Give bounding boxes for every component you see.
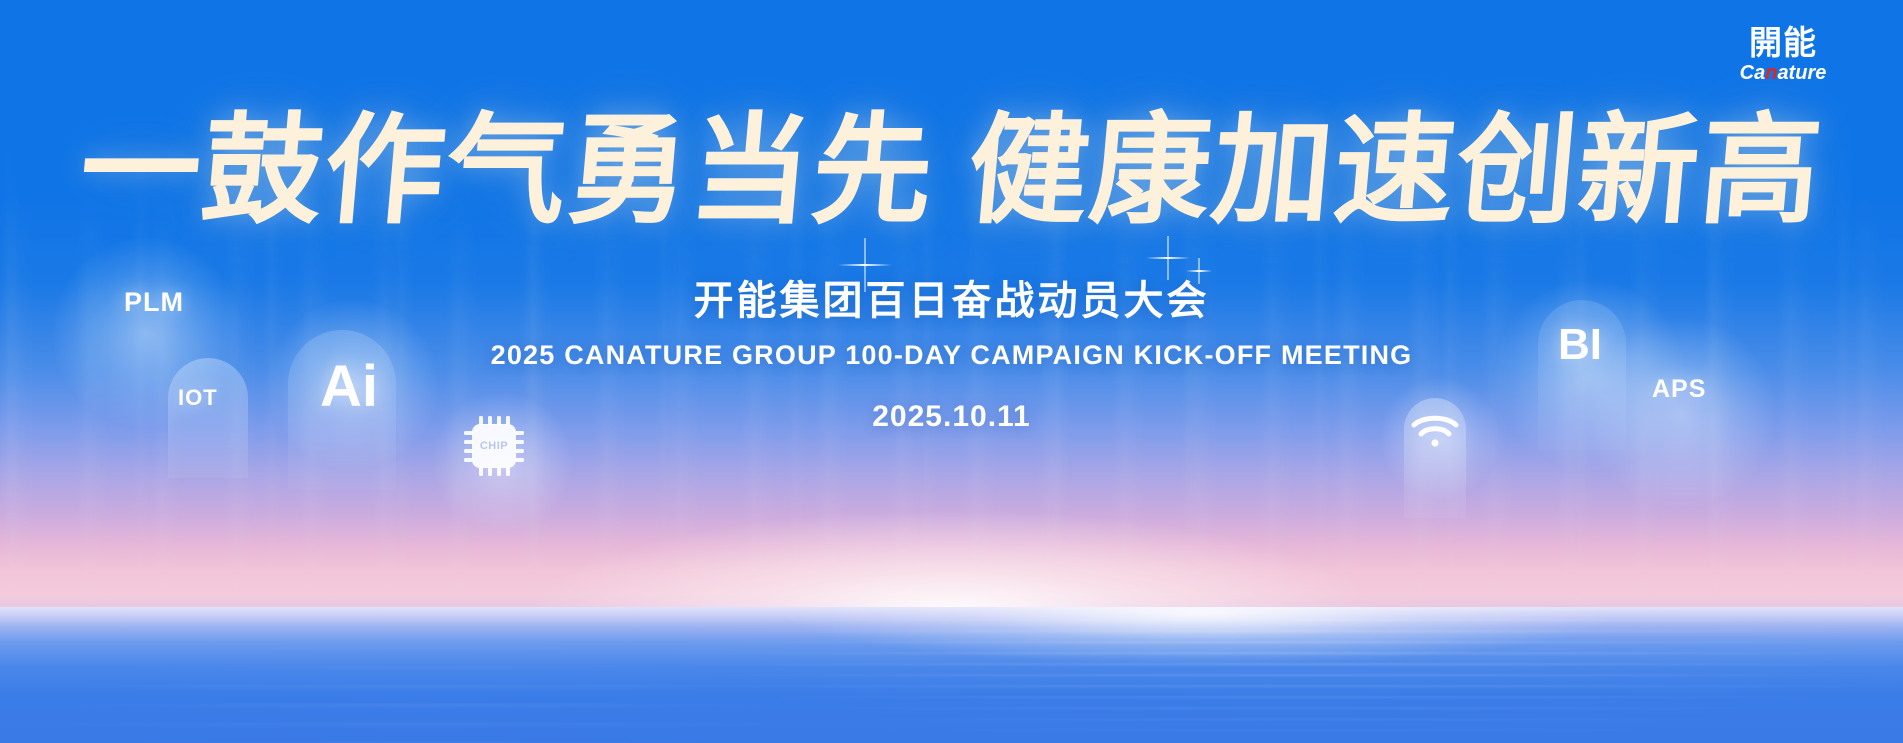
title-line-2: 健康加速创新高 (962, 102, 1828, 241)
water-ripples-secondary (0, 607, 1903, 743)
brand-logo-cn: 開能 (1703, 26, 1863, 59)
chip-label: CHIP (480, 440, 508, 452)
brand-logo-en-pre: Ca (1740, 62, 1766, 84)
subtitle-chinese: 开能集团百日奋战动员大会 (0, 268, 1903, 326)
brand-logo[interactable]: 開能 Canature (1703, 26, 1863, 83)
brand-logo-en-accent: n (1765, 62, 1777, 84)
brand-logo-en: Canature (1703, 63, 1863, 83)
subtitle-english: 2025 CANATURE GROUP 100-DAY CAMPAIGN KIC… (0, 340, 1903, 371)
event-date: 2025.10.11 (0, 400, 1903, 434)
page-title: 一鼓作气勇当先健康加速创新高 (0, 108, 1903, 235)
brand-logo-en-post: ature (1777, 62, 1826, 84)
title-line-1: 一鼓作气勇当先 (74, 102, 940, 241)
water-surface (0, 607, 1903, 743)
banner-stage: PLM IOT Ai CHIP (0, 0, 1903, 743)
